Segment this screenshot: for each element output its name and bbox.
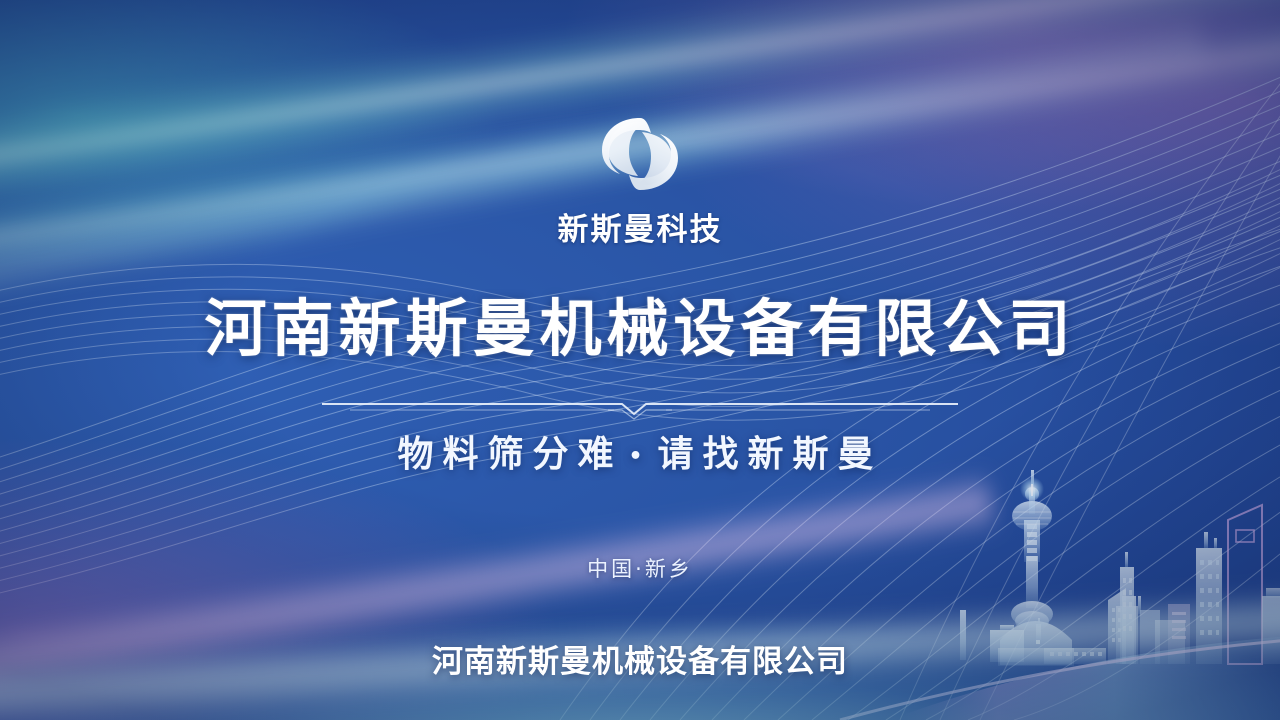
tagline-separator: • <box>622 444 657 469</box>
slide-canvas: 新斯曼科技 河南新斯曼机械设备有限公司 物料筛分难•请找新斯曼 中国·新乡 河南… <box>0 0 1280 720</box>
brand-logo-block: 新斯曼科技 <box>0 112 1280 249</box>
chevron-divider-ornament-icon <box>322 396 958 420</box>
tagline-left: 物料筛分难 <box>397 434 622 475</box>
location-label: 中国·新乡 <box>0 553 1280 583</box>
footer-company-name: 河南新斯曼机械设备有限公司 <box>0 636 1280 681</box>
swirl-s-logo-icon <box>588 112 692 196</box>
page-title: 河南新斯曼机械设备有限公司 <box>0 296 1280 361</box>
tagline-right: 请找新斯曼 <box>658 434 883 475</box>
brand-wordmark: 新斯曼科技 <box>558 204 723 249</box>
slide-content: 新斯曼科技 河南新斯曼机械设备有限公司 物料筛分难•请找新斯曼 中国·新乡 河南… <box>0 0 1280 720</box>
tagline: 物料筛分难•请找新斯曼 <box>0 425 1280 477</box>
